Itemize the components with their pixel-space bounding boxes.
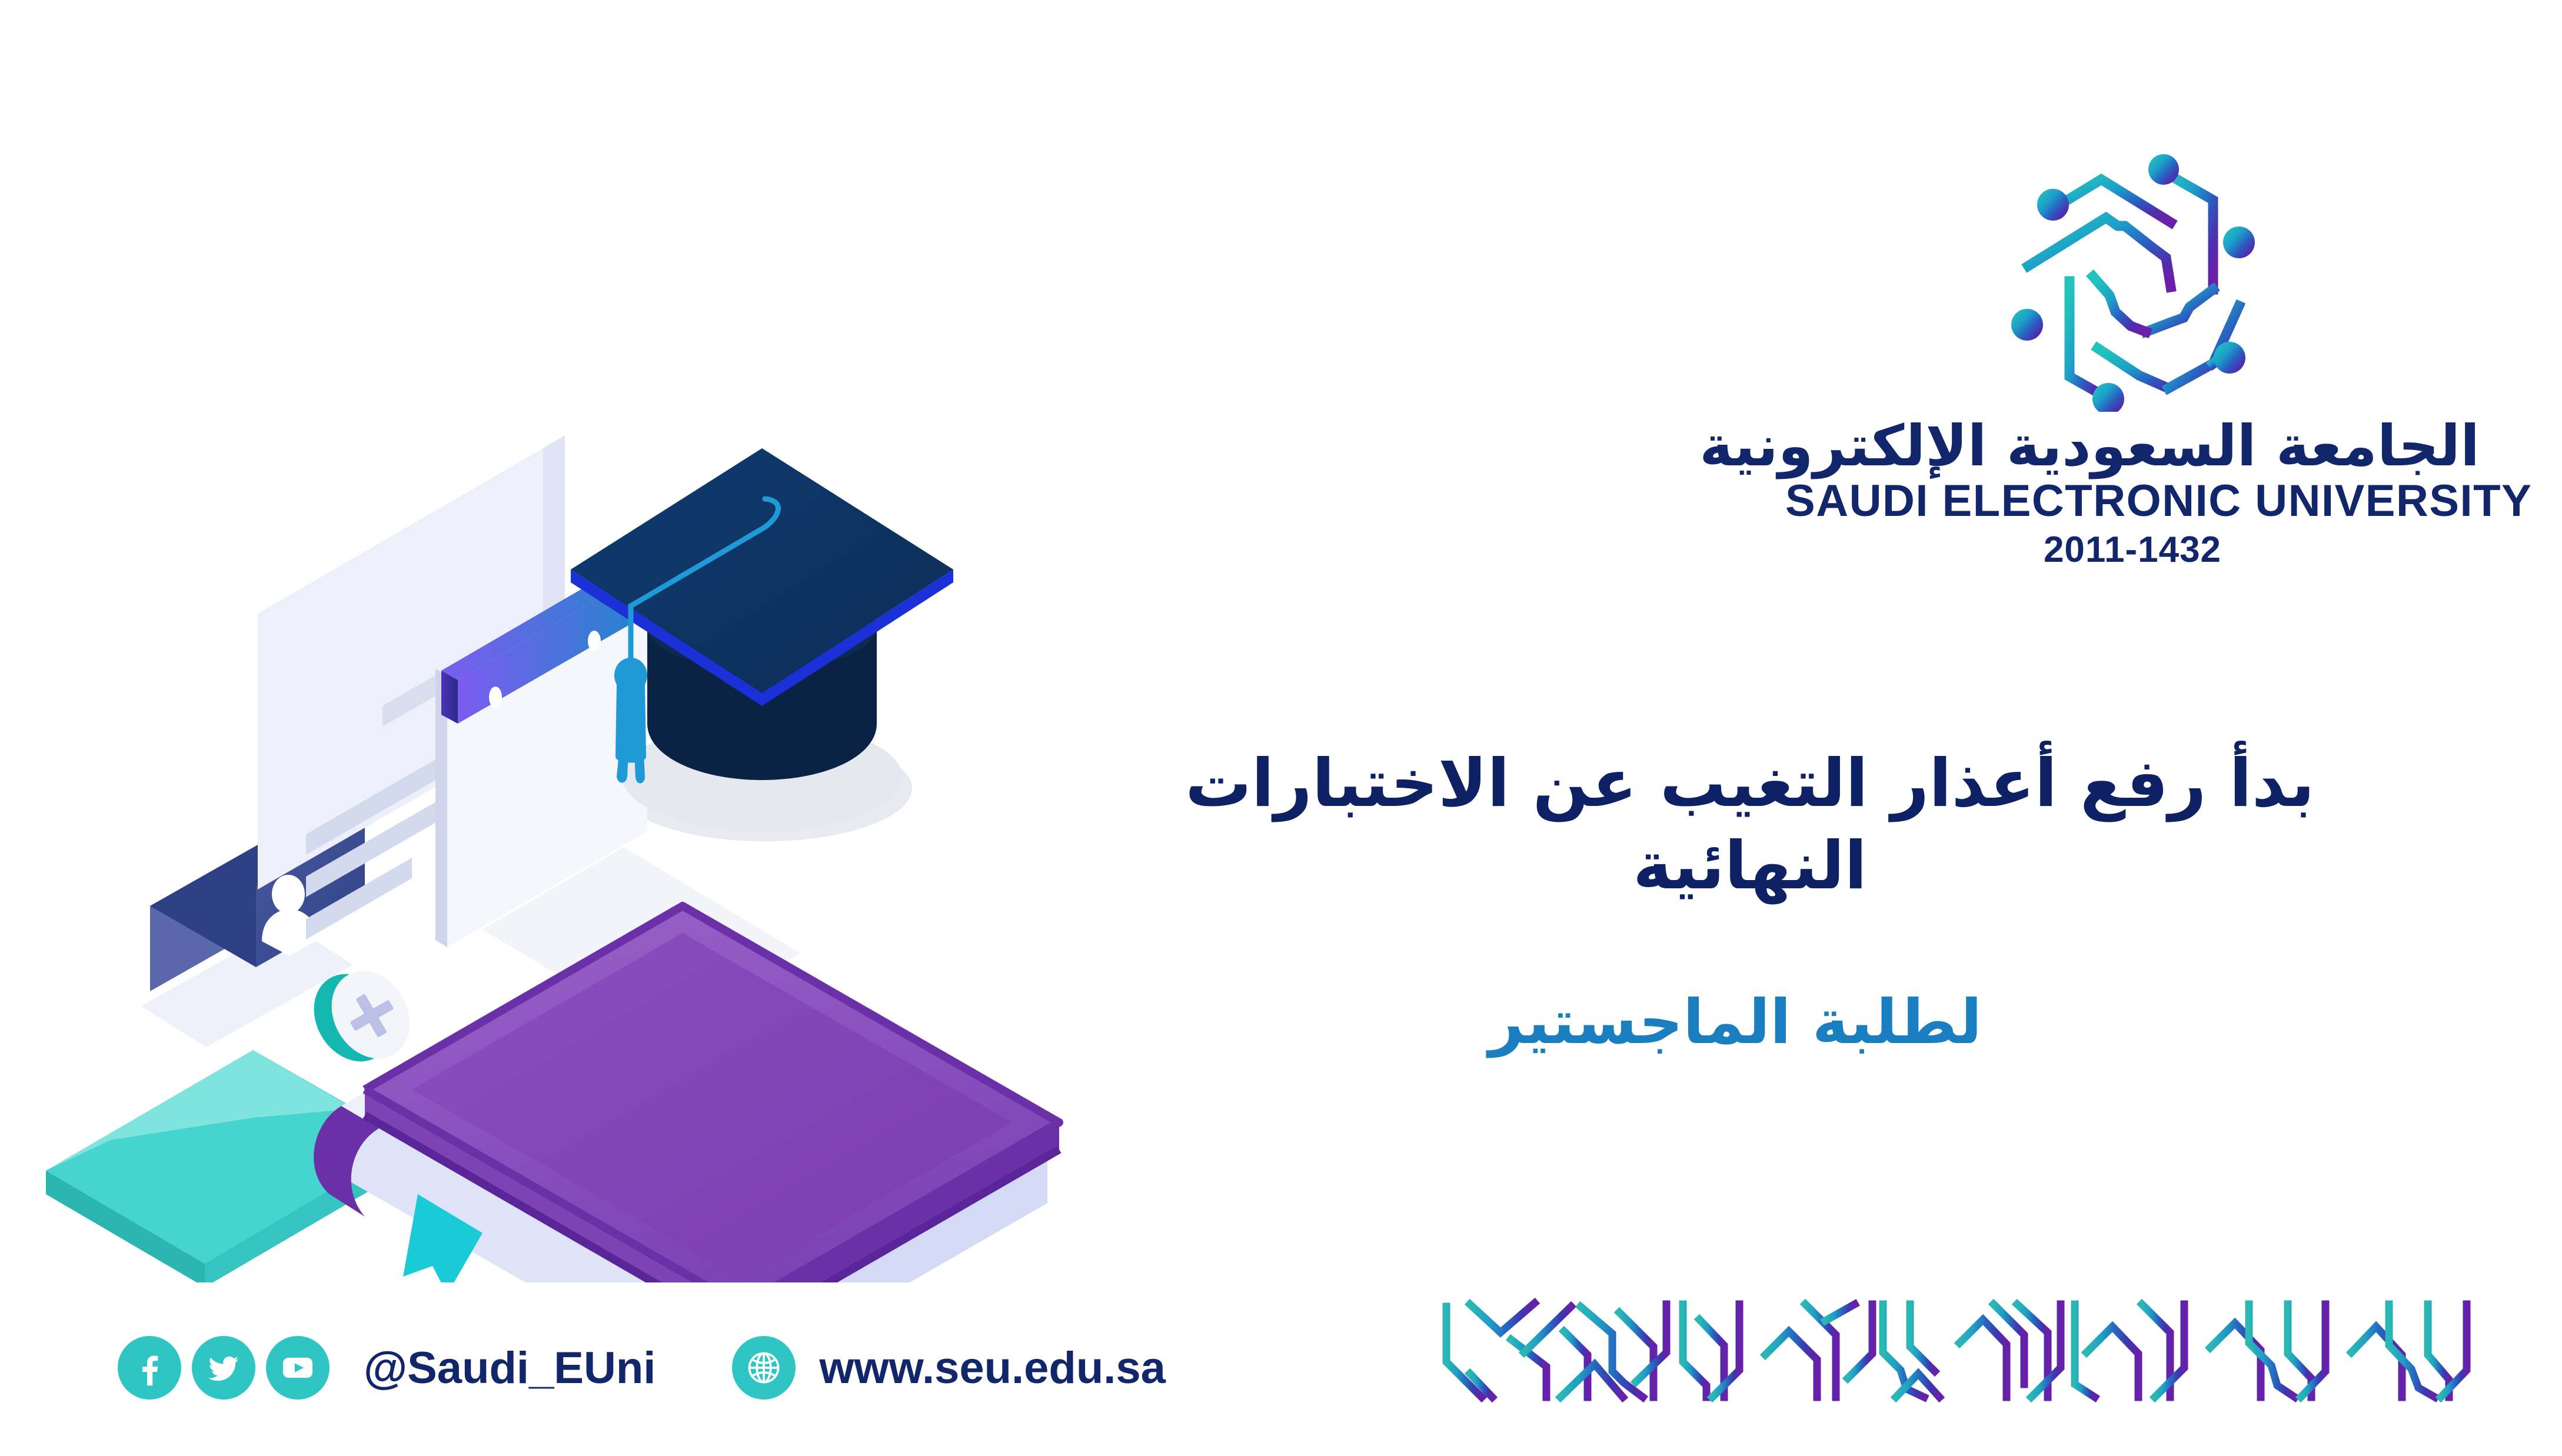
twitter-icon[interactable]: [192, 1336, 255, 1400]
announcement-headline: بدأ رفع أعذار التغيب عن الاختبارات النها…: [1173, 742, 2327, 907]
announcement-subtitle: لطلبة الماجستير: [1426, 984, 2044, 1060]
social-handle[interactable]: @Saudi_EUni: [364, 1342, 656, 1394]
isometric-education-illustration: [35, 412, 1189, 1282]
seu-logo-block: الجامعة السعودية الإلكترونية SAUDI ELECT…: [1785, 135, 2480, 571]
youtube-icon[interactable]: [266, 1336, 330, 1400]
graduation-cap: [571, 448, 953, 831]
poster-canvas: الجامعة السعودية الإلكترونية SAUDI ELECT…: [0, 0, 2562, 1456]
website-url[interactable]: www.seu.edu.sa: [819, 1342, 1165, 1394]
logo-arabic-name: الجامعة السعودية الإلكترونية: [1785, 417, 2480, 476]
facebook-icon[interactable]: [118, 1336, 181, 1400]
logo-year: 2011-1432: [1785, 529, 2480, 571]
website-group: www.seu.edu.sa: [732, 1336, 1165, 1400]
globe-icon[interactable]: [732, 1336, 796, 1400]
social-icons-group: @Saudi_EUni: [118, 1336, 656, 1400]
logo-english-name: SAUDI ELECTRONIC UNIVERSITY: [1785, 477, 2480, 525]
book: [314, 906, 1059, 1282]
seu-circuit-hexagon-logo: [1994, 135, 2271, 412]
circuit-zigzag-band: [1436, 1296, 2542, 1408]
footer-bar: @Saudi_EUni www.seu.edu.sa: [118, 1336, 1166, 1400]
